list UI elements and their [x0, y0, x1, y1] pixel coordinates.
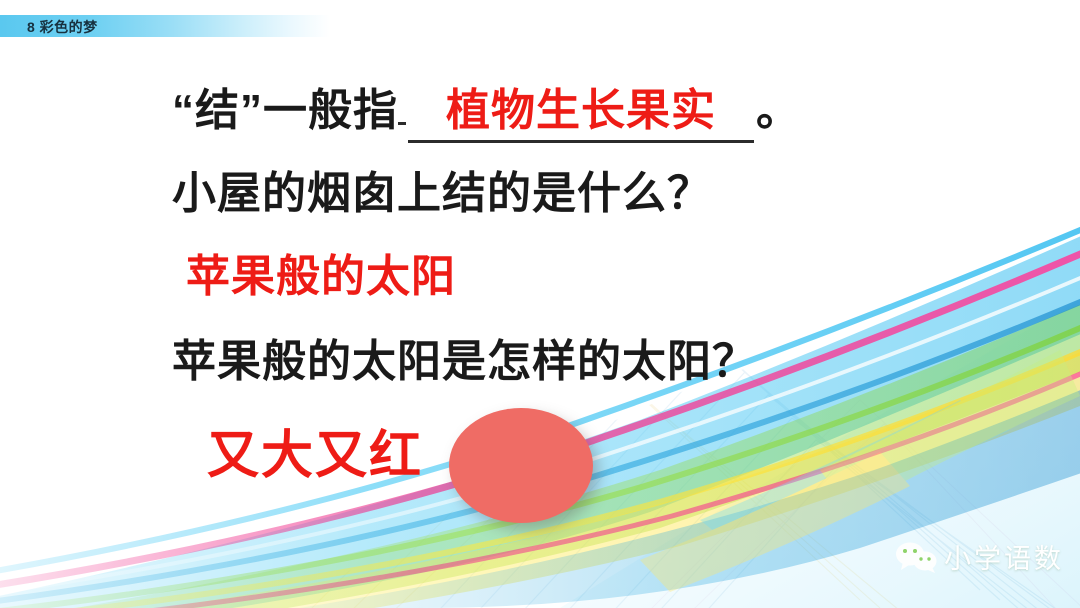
red-sun-ellipse: [449, 408, 593, 523]
line-1-underline-lead: [398, 122, 406, 125]
wechat-icon: [895, 541, 937, 573]
line-1-answer: 植物生长果实: [408, 74, 754, 143]
question-line-4: 苹果般的太阳是怎样的太阳？: [172, 325, 757, 389]
watermark-label: 小学语数: [944, 537, 1064, 576]
line-1-suffix: 。: [756, 86, 801, 135]
line-1-prefix: “结”一般指: [172, 86, 398, 135]
answer-line-3: 苹果般的太阳: [186, 240, 456, 304]
answer-line-5: 又大又红: [207, 413, 423, 488]
page-title: 8 彩色的梦: [27, 17, 98, 37]
question-line-2: 小屋的烟囱上结的是什么？: [172, 157, 712, 221]
question-line-1: “结”一般指植物生长果实。: [172, 74, 801, 143]
slide-canvas: 8 彩色的梦: [0, 0, 1080, 608]
watermark: 小学语数: [895, 537, 1064, 576]
